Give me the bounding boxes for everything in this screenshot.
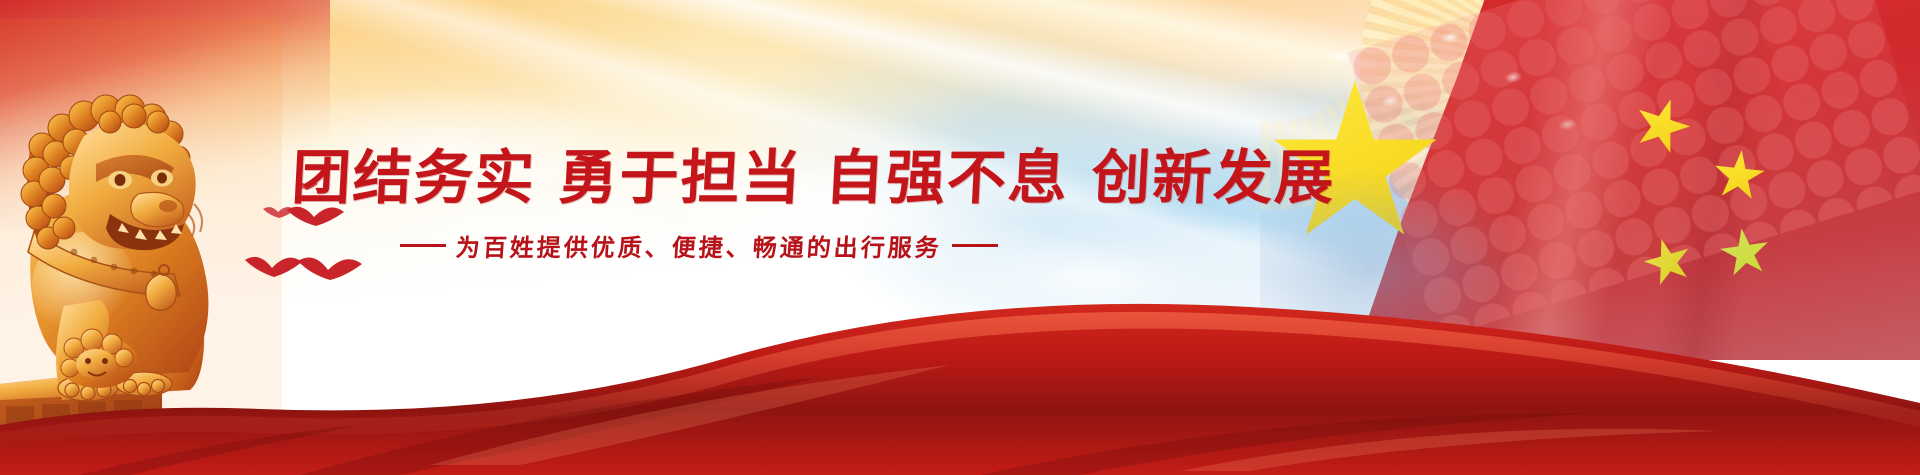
promotional-banner: 团结务实 勇于担当 自强不息 创新发展 为百姓提供优质、便捷、畅通的出行服务	[0, 0, 1920, 475]
page-title: 团结务实 勇于担当 自强不息 创新发展	[290, 148, 1337, 207]
subtitle-line: 为百姓提供优质、便捷、畅通的出行服务	[400, 228, 998, 263]
subtitle-text: 为百姓提供优质、便捷、畅通的出行服务	[455, 228, 943, 263]
dash-left-icon	[400, 244, 446, 247]
red-silk-wave	[0, 265, 1920, 475]
dash-right-icon	[952, 244, 998, 247]
